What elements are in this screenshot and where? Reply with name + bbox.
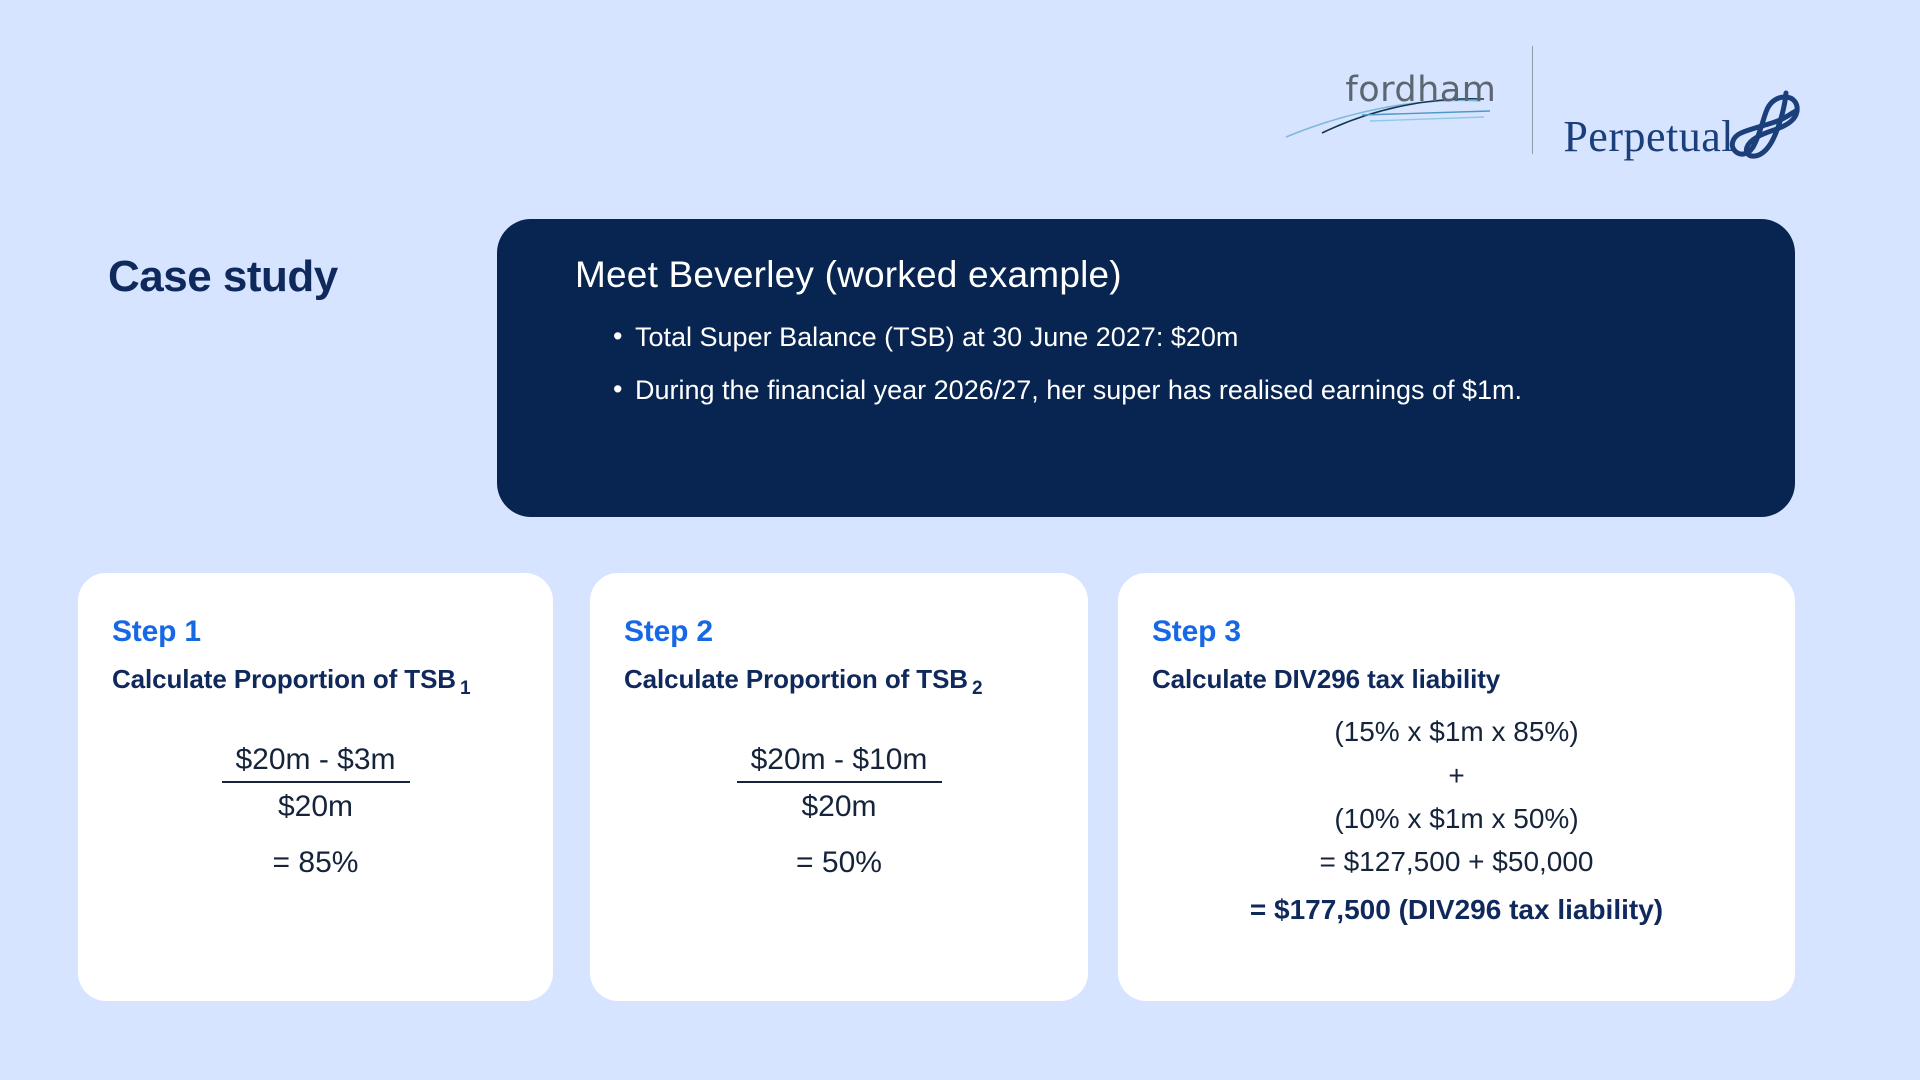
- step-card-3: Step 3 Calculate DIV296 tax liability (1…: [1118, 573, 1795, 1001]
- fordham-wordmark: fordham: [1345, 73, 1496, 108]
- step-label: Step 3: [1152, 615, 1761, 649]
- step-heading-text: Calculate DIV296 tax liability: [1152, 664, 1500, 694]
- fraction-bar: [737, 781, 942, 783]
- perpetual-wordmark: Perpetual: [1563, 115, 1734, 159]
- fraction-bar: [222, 781, 410, 783]
- page-title: Case study: [108, 252, 338, 302]
- step-fraction: $20m - $3m $20m = 85%: [112, 740, 519, 883]
- step-heading: Calculate DIV296 tax liability: [1152, 663, 1761, 696]
- callout-bullet-list: Total Super Balance (TSB) at 30 June 202…: [575, 319, 1743, 407]
- perpetual-logo: Perpetual: [1563, 55, 1800, 145]
- step-card-2: Step 2 Calculate Proportion of TSB2 $20m…: [590, 573, 1088, 1001]
- list-item: During the financial year 2026/27, her s…: [613, 372, 1743, 408]
- calc-line: (15% x $1m x 85%): [1152, 710, 1761, 753]
- step-calculation: (15% x $1m x 85%) + (10% x $1m x 50%) = …: [1152, 710, 1761, 931]
- step-label: Step 2: [624, 615, 1054, 649]
- brand-logo-bar: fordham Perpetual: [1296, 40, 1800, 160]
- fraction-numerator: $20m - $3m: [112, 740, 519, 780]
- calc-line: (10% x $1m x 50%): [1152, 797, 1761, 840]
- step-label: Step 1: [112, 615, 519, 649]
- step-heading-text: Calculate Proportion of TSB: [624, 664, 968, 694]
- calc-line: = $127,500 + $50,000: [1152, 840, 1761, 883]
- step-heading-subscript: 2: [972, 678, 982, 699]
- list-item: Total Super Balance (TSB) at 30 June 202…: [613, 319, 1743, 355]
- fraction-bar-wrap: [112, 781, 519, 783]
- fraction-result: = 85%: [112, 843, 519, 883]
- step-fraction: $20m - $10m $20m = 50%: [624, 740, 1054, 883]
- logo-divider: [1532, 46, 1533, 154]
- steps-row: Step 1 Calculate Proportion of TSB1 $20m…: [78, 573, 1795, 1001]
- perpetual-infinity-mark-icon: [1728, 85, 1800, 161]
- fraction-numerator: $20m - $10m: [624, 740, 1054, 780]
- step-heading: Calculate Proportion of TSB2: [624, 663, 1054, 702]
- calc-line: +: [1152, 754, 1761, 797]
- callout-heading: Meet Beverley (worked example): [575, 253, 1743, 297]
- fordham-logo: fordham: [1296, 55, 1496, 145]
- step-heading-text: Calculate Proportion of TSB: [112, 664, 456, 694]
- step-heading: Calculate Proportion of TSB1: [112, 663, 519, 702]
- fraction-denominator: $20m: [112, 787, 519, 827]
- fraction-bar-wrap: [624, 781, 1054, 783]
- fraction-result: = 50%: [624, 843, 1054, 883]
- case-study-callout: Meet Beverley (worked example) Total Sup…: [497, 219, 1795, 517]
- fraction-denominator: $20m: [624, 787, 1054, 827]
- calc-total-line: = $177,500 (DIV296 tax liability): [1152, 888, 1761, 931]
- step-card-1: Step 1 Calculate Proportion of TSB1 $20m…: [78, 573, 553, 1001]
- step-heading-subscript: 1: [460, 678, 470, 699]
